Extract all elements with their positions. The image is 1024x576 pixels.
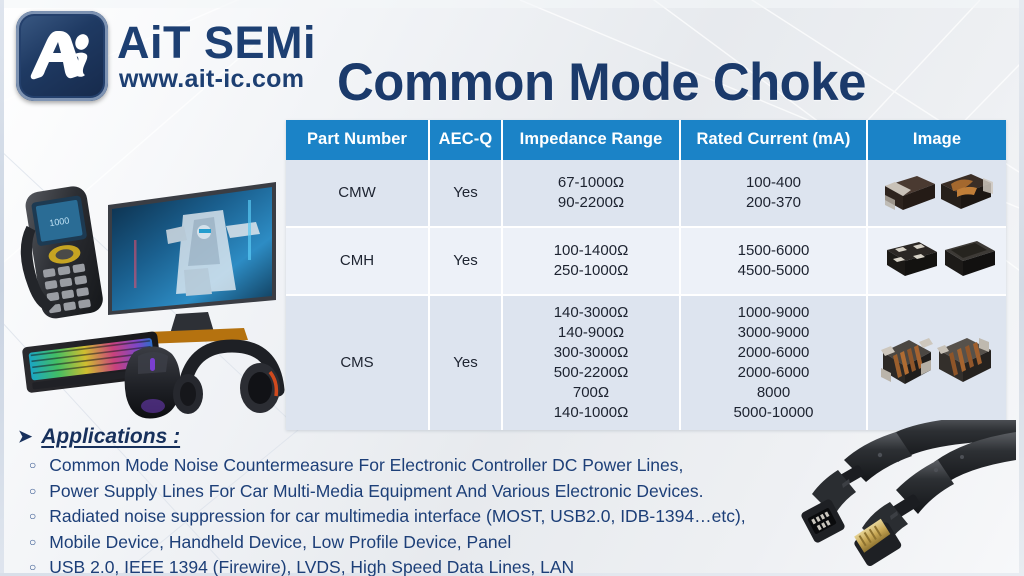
impedance-value: 90-2200Ω	[506, 193, 676, 213]
cell-impedance: 140-3000Ω 140-900Ω 300-3000Ω 500-2200Ω 7…	[502, 295, 680, 430]
list-item-label: Mobile Device, Handheld Device, Low Prof…	[49, 530, 511, 556]
list-item: ○ Radiated noise suppression for car mul…	[18, 504, 838, 530]
impedance-value: 140-1000Ω	[506, 403, 676, 423]
impedance-value: 700Ω	[506, 383, 676, 403]
impedance-value: 300-3000Ω	[506, 343, 676, 363]
current-value: 1000-9000	[684, 303, 863, 323]
list-item: ○ Power Supply Lines For Car Multi-Media…	[18, 479, 838, 505]
table-row: CMH Yes 100-1400Ω 250-1000Ω 1500-6000 45…	[286, 227, 1006, 295]
column-header-image: Image	[867, 120, 1006, 160]
cell-aec-q: Yes	[429, 295, 502, 430]
impedance-value: 100-1400Ω	[506, 241, 676, 261]
cell-aec-q: Yes	[429, 160, 502, 227]
circle-bullet-icon: ○	[29, 459, 36, 471]
list-item: ○ Common Mode Noise Countermeasure For E…	[18, 453, 838, 479]
circle-bullet-icon: ○	[29, 510, 36, 522]
table-row: CMW Yes 67-1000Ω 90-2200Ω 100-400 200-37…	[286, 160, 1006, 227]
cell-rated-current: 1500-6000 4500-5000	[680, 227, 867, 295]
column-header-part-number: Part Number	[286, 120, 429, 160]
list-item-label: USB 2.0, IEEE 1394 (Firewire), LVDS, Hig…	[49, 555, 574, 576]
current-value: 100-400	[684, 173, 863, 193]
cell-product-image	[867, 295, 1006, 430]
current-value: 2000-6000	[684, 343, 863, 363]
page-title: Common Mode Choke	[337, 52, 866, 114]
slide-header: AiT SEMi www.ait-ic.com Common Mode Chok…	[0, 0, 1024, 120]
cell-part-number: CMW	[286, 160, 429, 227]
cell-part-number: CMS	[286, 295, 429, 430]
current-value: 2000-6000	[684, 363, 863, 383]
current-value: 1500-6000	[684, 241, 863, 261]
current-value: 3000-9000	[684, 323, 863, 343]
impedance-value: 250-1000Ω	[506, 261, 676, 281]
list-item-label: Power Supply Lines For Car Multi-Media E…	[49, 479, 703, 505]
gaming-devices-collage-image: 1000	[8, 160, 286, 422]
ait-logo-icon	[16, 11, 108, 101]
slide-canvas: AiT SEMi www.ait-ic.com Common Mode Chok…	[0, 0, 1024, 576]
list-item-label: Common Mode Noise Countermeasure For Ele…	[49, 453, 683, 479]
column-header-aec-q: AEC-Q	[429, 120, 502, 160]
cms-wirewound-choke-photo	[873, 326, 1001, 400]
circle-bullet-icon: ○	[29, 536, 36, 548]
cell-part-number: CMH	[286, 227, 429, 295]
table-header-row: Part Number AEC-Q Impedance Range Rated …	[286, 120, 1006, 160]
current-value: 8000	[684, 383, 863, 403]
column-header-rated-current: Rated Current (mA)	[680, 120, 867, 160]
cell-product-image	[867, 160, 1006, 227]
cell-rated-current: 100-400 200-370	[680, 160, 867, 227]
impedance-value: 140-3000Ω	[506, 303, 676, 323]
brand-name: AiT SEMi	[117, 17, 316, 69]
applications-heading: ➤ Applications :	[18, 425, 838, 449]
current-value: 200-370	[684, 193, 863, 213]
circle-bullet-icon: ○	[29, 485, 36, 497]
arrow-bullet-icon: ➤	[18, 427, 32, 447]
impedance-value: 67-1000Ω	[506, 173, 676, 193]
impedance-value: 140-900Ω	[506, 323, 676, 343]
brand-website: www.ait-ic.com	[119, 65, 304, 94]
cmw-chip-choke-photo	[873, 164, 1001, 222]
column-header-impedance: Impedance Range	[502, 120, 680, 160]
list-item: ○ USB 2.0, IEEE 1394 (Firewire), LVDS, H…	[18, 555, 838, 576]
current-value: 4500-5000	[684, 261, 863, 281]
applications-section: ➤ Applications : ○ Common Mode Noise Cou…	[18, 425, 838, 576]
impedance-value: 500-2200Ω	[506, 363, 676, 383]
list-item: ○ Mobile Device, Handheld Device, Low Pr…	[18, 530, 838, 556]
applications-heading-label: Applications :	[41, 425, 180, 449]
firewire-cable-image	[784, 420, 1016, 572]
circle-bullet-icon: ○	[29, 561, 36, 573]
cmh-chip-choke-photo	[873, 232, 1001, 290]
cell-impedance: 67-1000Ω 90-2200Ω	[502, 160, 680, 227]
table-row: CMS Yes 140-3000Ω 140-900Ω 300-3000Ω 500…	[286, 295, 1006, 430]
cell-aec-q: Yes	[429, 227, 502, 295]
specification-table: Part Number AEC-Q Impedance Range Rated …	[286, 120, 1006, 430]
cell-rated-current: 1000-9000 3000-9000 2000-6000 2000-6000 …	[680, 295, 867, 430]
cell-product-image	[867, 227, 1006, 295]
list-item-label: Radiated noise suppression for car multi…	[49, 504, 745, 530]
cell-impedance: 100-1400Ω 250-1000Ω	[502, 227, 680, 295]
